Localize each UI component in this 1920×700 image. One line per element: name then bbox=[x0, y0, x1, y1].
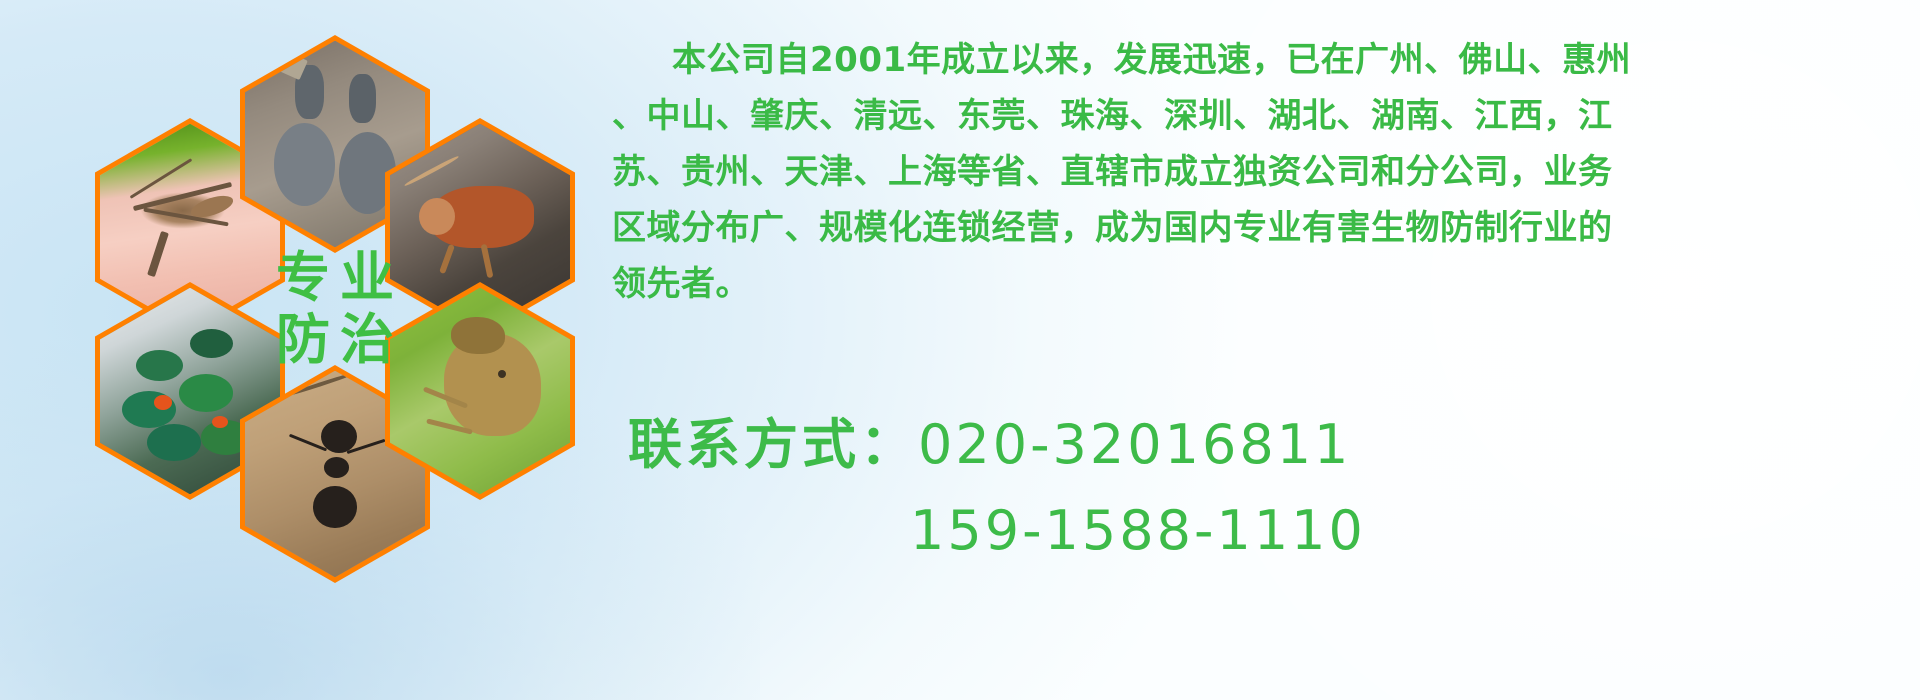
honeycomb-photo-cluster: 专业 防治 bbox=[95, 8, 575, 568]
intro-line-3: 苏、贵州、天津、上海等省、直辖市成立独资公司和分公司，业务 bbox=[612, 144, 1912, 200]
hex-inner-logo: 专业 防治 bbox=[245, 206, 425, 413]
contact-landline-row: 联系方式：020-32016811 bbox=[628, 402, 1366, 488]
contact-label: 联系方式： bbox=[628, 413, 918, 476]
contact-phone-mobile[interactable]: 159-1588-1110 bbox=[910, 499, 1366, 562]
intro-line-5: 领先者。 bbox=[612, 256, 1912, 312]
intro-line-2: 、中山、肇庆、清远、东莞、珠海、深圳、湖北、湖南、江西，江 bbox=[612, 88, 1912, 144]
company-intro-paragraph: 本公司自2001年成立以来，发展迅速，已在广州、佛山、惠州 、中山、肇庆、清远、… bbox=[612, 32, 1912, 312]
contact-block: 联系方式：020-32016811 159-1588-1110 bbox=[628, 402, 1366, 574]
logo-line-1: 专业 bbox=[266, 247, 404, 309]
contact-phone-landline[interactable]: 020-32016811 bbox=[918, 413, 1351, 476]
intro-line-1: 本公司自2001年成立以来，发展迅速，已在广州、佛山、惠州 bbox=[612, 32, 1912, 88]
logo-line-2: 防治 bbox=[266, 309, 404, 371]
contact-mobile-row: 159-1588-1110 bbox=[628, 488, 1366, 574]
intro-line-4: 区域分布广、规模化连锁经营，成为国内专业有害生物防制行业的 bbox=[612, 200, 1912, 256]
pest-control-banner: 专业 防治 本公司自2001年成立以来，发展迅速，已在广州、佛山、惠州 、中山、… bbox=[0, 0, 1920, 700]
